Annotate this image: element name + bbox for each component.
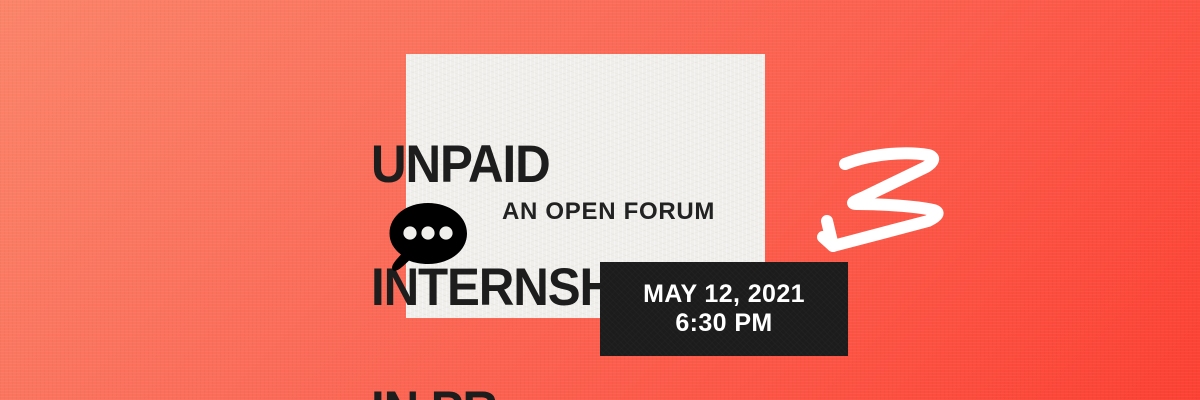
speech-bubble-icon	[380, 198, 476, 272]
date-badge: MAY 12, 2021 6:30 PM	[600, 262, 848, 356]
event-date: MAY 12, 2021	[643, 282, 805, 307]
headline-line-1: UNPAID	[371, 144, 690, 185]
headline-line-3: IN PR	[371, 390, 690, 400]
squiggle-arrow-icon	[800, 142, 950, 254]
subtitle: AN OPEN FORUM	[502, 198, 715, 226]
event-time: 6:30 PM	[675, 311, 772, 336]
event-poster: UNPAID INTERNSHIPS IN PR AN OPEN FORUM M…	[0, 0, 1200, 400]
